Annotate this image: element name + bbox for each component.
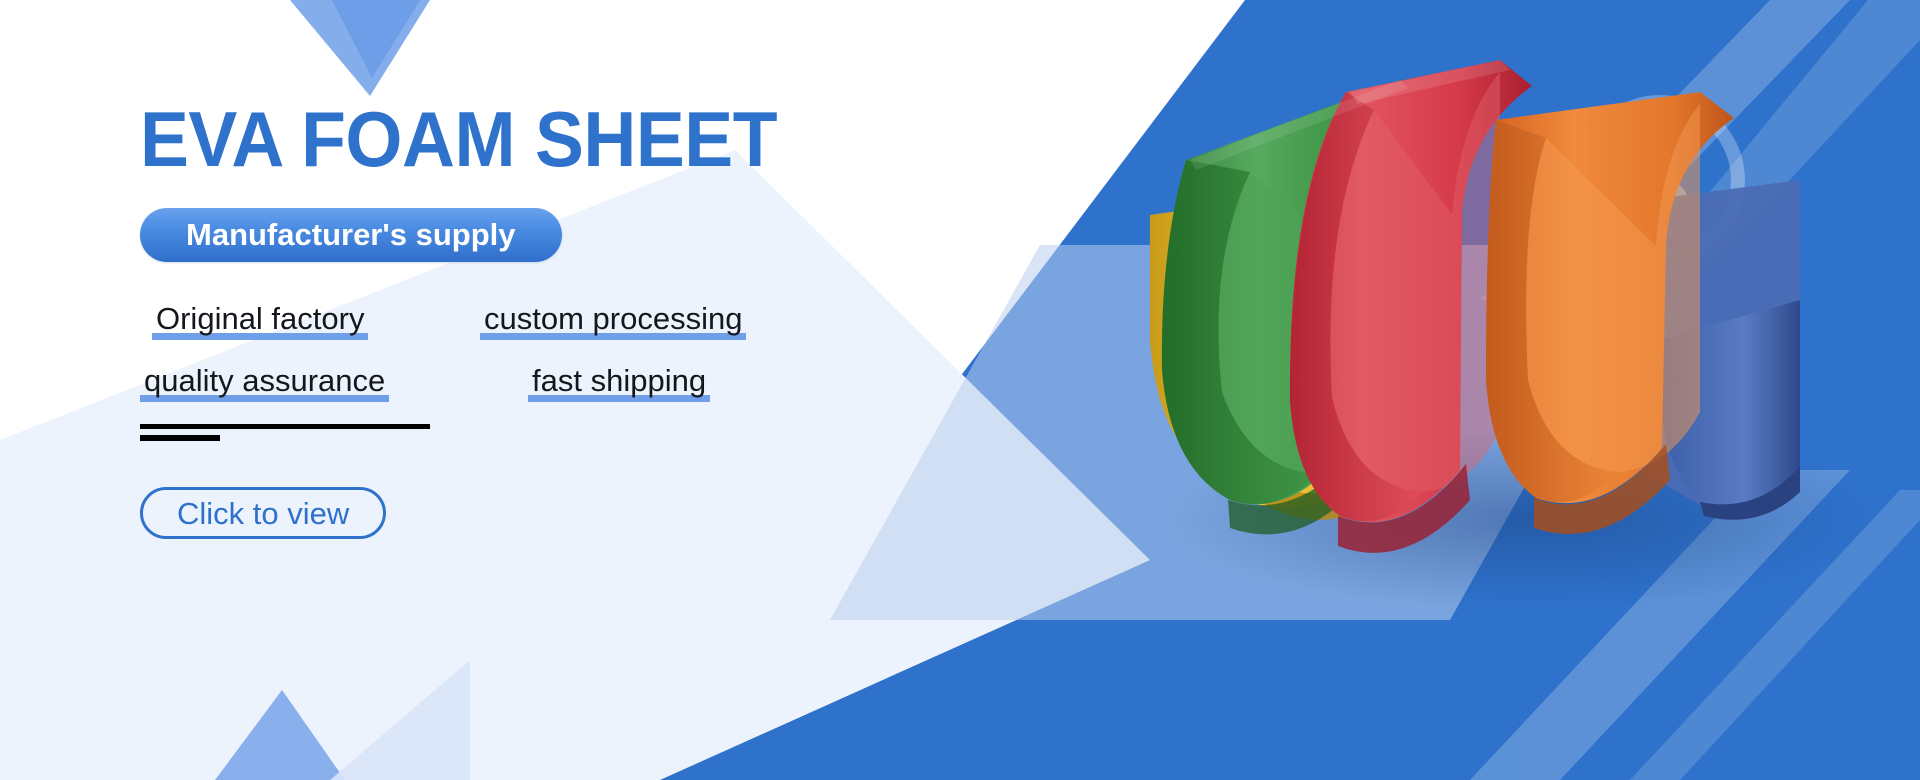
feature-row: Original factory custom processing	[140, 300, 760, 340]
feature-label: quality assurance	[144, 363, 385, 398]
feature-cell: Original factory	[140, 300, 480, 340]
feature-list: Original factory custom processing quali…	[140, 300, 760, 402]
feature-item-quality-assurance: quality assurance	[140, 362, 389, 402]
divider-line-long	[140, 424, 430, 429]
page-title: EVA FOAM SHEET	[140, 96, 873, 182]
feature-cell: fast shipping	[480, 362, 760, 402]
feature-cell: custom processing	[480, 300, 760, 340]
feature-row: quality assurance fast shipping	[140, 362, 760, 402]
decorative-circle-solid	[1630, 178, 1690, 238]
feature-cell: quality assurance	[140, 362, 480, 402]
promo-banner: EVA FOAM SHEET Manufacturer's supply Ori…	[0, 0, 1920, 780]
feature-item-original-factory: Original factory	[152, 300, 368, 340]
feature-label: custom processing	[484, 301, 742, 336]
feature-item-custom-processing: custom processing	[480, 300, 746, 340]
feature-item-fast-shipping: fast shipping	[528, 362, 710, 402]
click-to-view-button[interactable]: Click to view	[140, 487, 386, 539]
feature-label: fast shipping	[532, 363, 706, 398]
divider-line-short	[140, 435, 220, 441]
status-badge: Manufacturer's supply	[140, 208, 562, 262]
feature-label: Original factory	[156, 301, 364, 336]
divider-group	[140, 424, 440, 441]
banner-content: EVA FOAM SHEET Manufacturer's supply Ori…	[140, 96, 920, 539]
